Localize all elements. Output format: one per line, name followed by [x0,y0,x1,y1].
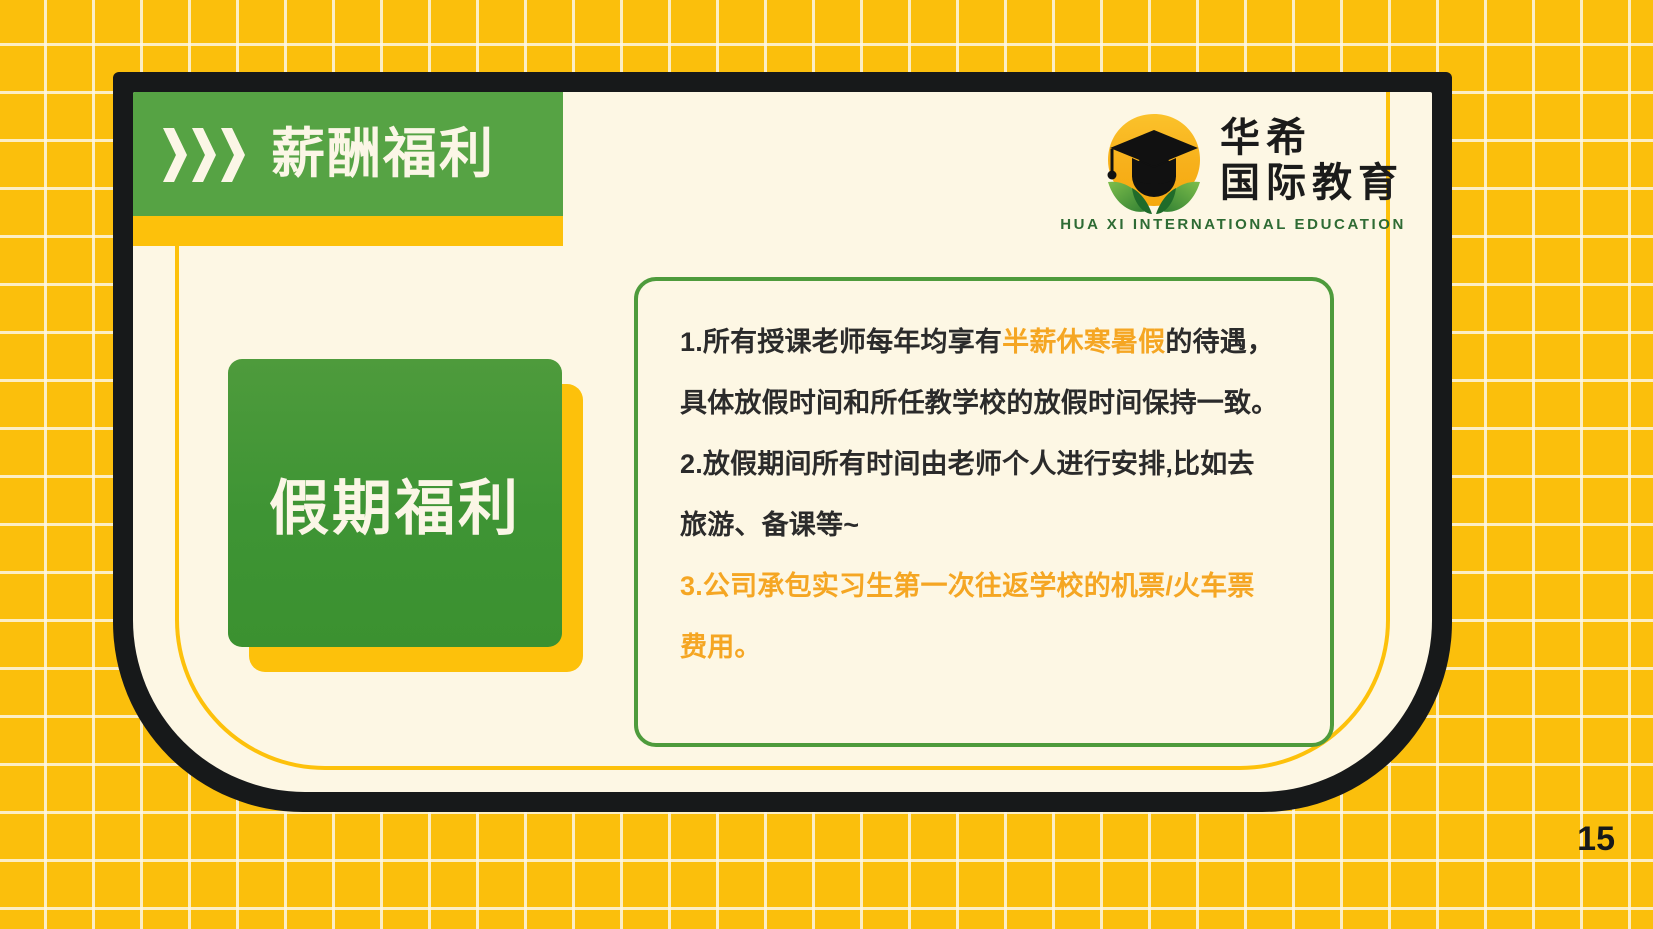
brand-logo: 华希 国际教育 [1098,110,1404,228]
chevron-right-icon [192,128,216,182]
chevrons-icon [163,128,245,182]
body-text-line: 具体放假时间和所任教学校的放假时间保持一致。 [680,390,1288,417]
chevron-right-icon [163,128,187,182]
slide-canvas: 薪酬福利 [0,0,1653,929]
page-title: 薪酬福利 [271,127,495,181]
body-text-segment: 1.所有授课老师每年均享有 [680,327,1002,357]
body-text-line: 3.公司承包实习生第一次往返学校的机票/火车票 [680,573,1288,600]
body-text-line: 1.所有授课老师每年均享有半薪休寒暑假的待遇， [680,329,1288,356]
body-text-line: 旅游、备课等~ [680,512,1288,539]
title-banner-underline [133,216,563,246]
section-label-card: 假期福利 [228,359,562,647]
body-text-segment: 旅游、备课等~ [680,510,859,540]
chevron-right-icon [221,128,245,182]
slide-card-body: 薪酬福利 [133,92,1432,792]
body-text-segment: 的待遇， [1165,327,1274,357]
title-banner: 薪酬福利 [133,92,563,216]
logo-line-2: 国际教育 [1220,161,1404,206]
slide-card-frame: 薪酬福利 [113,72,1452,812]
graduation-cap-logo-icon [1098,110,1210,228]
logo-line-1: 华希 [1220,116,1404,161]
body-text-segment: 3.公司承包实习生第一次往返学校的机票/火车票 [680,571,1255,601]
content-panel: 1.所有授课老师每年均享有半薪休寒暑假的待遇，具体放假时间和所任教学校的放假时间… [634,277,1334,747]
body-text-line: 2.放假期间所有时间由老师个人进行安排,比如去 [680,451,1288,478]
logo-wordmark: 华希 国际教育 [1220,110,1404,206]
body-text-segment: 具体放假时间和所任教学校的放假时间保持一致。 [680,388,1278,418]
body-text-segment: 费用。 [680,632,762,662]
page-number: 15 [1577,820,1615,859]
section-label-text: 假期福利 [269,460,521,547]
logo-tagline: HUA XI INTERNATIONAL EDUCATION [1060,216,1406,233]
body-text-line: 费用。 [680,634,1288,661]
body-text-segment: 2.放假期间所有时间由老师个人进行安排,比如去 [680,449,1255,479]
highlighted-text: 半薪休寒暑假 [1002,327,1165,357]
